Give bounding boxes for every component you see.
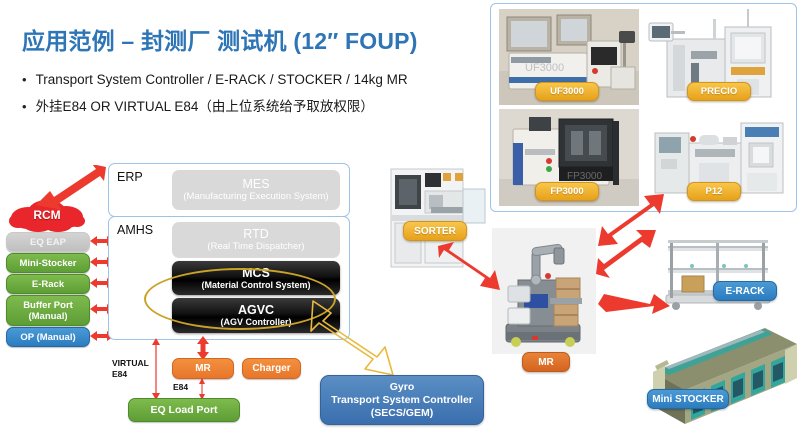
p12-mr-arrow-icon [596,228,660,278]
charger-label: Charger [252,363,290,374]
gyro-transport-controller-box[interactable]: Gyro Transport System Controller (SECS/G… [320,375,484,425]
sorter-mr-double-arrow-icon [434,240,504,296]
charger-box[interactable]: Charger [242,358,301,379]
left-item-label-line1: Buffer Port [23,300,73,311]
rtd-subtitle: (Real Time Dispatcher) [207,241,304,252]
mcs-subtitle: (Material Control System) [201,280,310,290]
left-item-e-rack[interactable]: E-Rack [6,274,90,294]
equipment-photo-panel: UF3000 UF3000 PRECIO [490,3,797,212]
e84-label: E84 [173,382,188,392]
agvc-mr-double-arrow-icon [196,336,210,360]
svg-text:UF3000: UF3000 [525,62,564,74]
virtual-e84-label: VIRTUAL E84 [112,358,150,380]
label-text: Mini STOCKER [652,394,723,405]
photo-label-mr: MR [522,352,570,372]
rtd-title: RTD [243,228,268,241]
photo-label-precio: PRECIO [687,82,751,101]
bullet-item-1: • Transport System Controller / E-RACK /… [22,72,408,88]
left-item-label: Mini-Stocker [19,258,76,269]
rcm-cloud: RCM [8,198,86,232]
photo-mr [492,228,596,354]
erack-image [658,238,780,314]
left-item-label-line2: (Manual) [28,311,67,322]
mr-robot-image [492,228,596,354]
left-item-op-manual[interactable]: OP (Manual) [6,327,90,347]
label-text: MR [538,357,554,368]
label-text: FP3000 [550,186,583,197]
gyro-line2: Transport System Controller [331,394,473,407]
mr-erack-arrow-icon [598,288,670,314]
label-text: P12 [706,186,723,197]
bullet-item-2: • 外挂E84 OR VIRTUAL E84（由上位系统给予取放权限） [22,99,374,115]
rcm-label: RCM [8,198,86,232]
left-item-eq-eap[interactable]: EQ EAP [6,232,90,252]
label-text: PRECIO [701,86,737,97]
mr-label: MR [195,363,211,374]
label-text: UF3000 [550,86,584,97]
bullet-text: 外挂E84 OR VIRTUAL E84（由上位系统给予取放权限） [36,99,374,115]
gold-callout-arrow-icon [305,295,415,383]
e84-arrow-icon [197,378,207,400]
gyro-line1: Gyro [390,381,415,394]
gyro-line3: (SECS/GEM) [371,407,433,420]
svg-text:FP3000: FP3000 [567,171,602,182]
mcs-title: MCS [242,267,270,280]
bullet-marker-icon: • [22,99,27,115]
mes-box[interactable]: MES (Manufacturing Execution System) [172,170,340,210]
bullet-text: Transport System Controller / E-RACK / S… [36,72,408,88]
photo-label-erack: E-RACK [713,281,777,301]
agvc-subtitle: (AGV Controller) [221,317,292,327]
virtual-e84-line2: E84 [112,369,150,380]
mes-subtitle: (Manufacturing Execution System) [183,191,328,202]
virtual-e84-arrow-icon [150,338,162,400]
left-item-label: EQ EAP [30,237,66,248]
left-item-mini-stocker[interactable]: Mini-Stocker [6,253,90,273]
photo-label-sorter: SORTER [403,221,467,241]
photo-label-p12: P12 [687,182,741,201]
mr-box[interactable]: MR [172,358,234,379]
label-text: SORTER [414,226,456,237]
bullet-marker-icon: • [22,72,27,88]
agvc-title: AGVC [238,304,274,317]
photo-mini-stocker [645,320,800,430]
rtd-box[interactable]: RTD (Real Time Dispatcher) [172,222,340,258]
photo-erack [658,238,780,314]
erp-frame-label: ERP [117,170,143,184]
label-text: E-RACK [726,286,765,297]
photo-label-uf3000: UF3000 [535,82,599,101]
mini-stocker-image [645,320,800,430]
photo-label-mini-stocker: Mini STOCKER [647,389,729,409]
mcs-box[interactable]: MCS (Material Control System) [172,261,340,295]
erp-frame: ERP MES (Manufacturing Execution System) [108,163,350,217]
eq-load-port-label: EQ Load Port [150,405,217,416]
mes-title: MES [242,178,269,191]
page-title: 应用范例 – 封测厂 测试机 (12″ FOUP) [22,22,418,56]
eq-load-port-box[interactable]: EQ Load Port [128,398,240,422]
left-item-label: E-Rack [32,279,64,290]
virtual-e84-line1: VIRTUAL [112,358,150,369]
left-item-buffer-port[interactable]: Buffer Port (Manual) [6,295,90,326]
amhs-frame-label: AMHS [117,223,153,237]
photo-label-fp3000: FP3000 [535,182,599,201]
left-item-label: OP (Manual) [20,332,75,343]
